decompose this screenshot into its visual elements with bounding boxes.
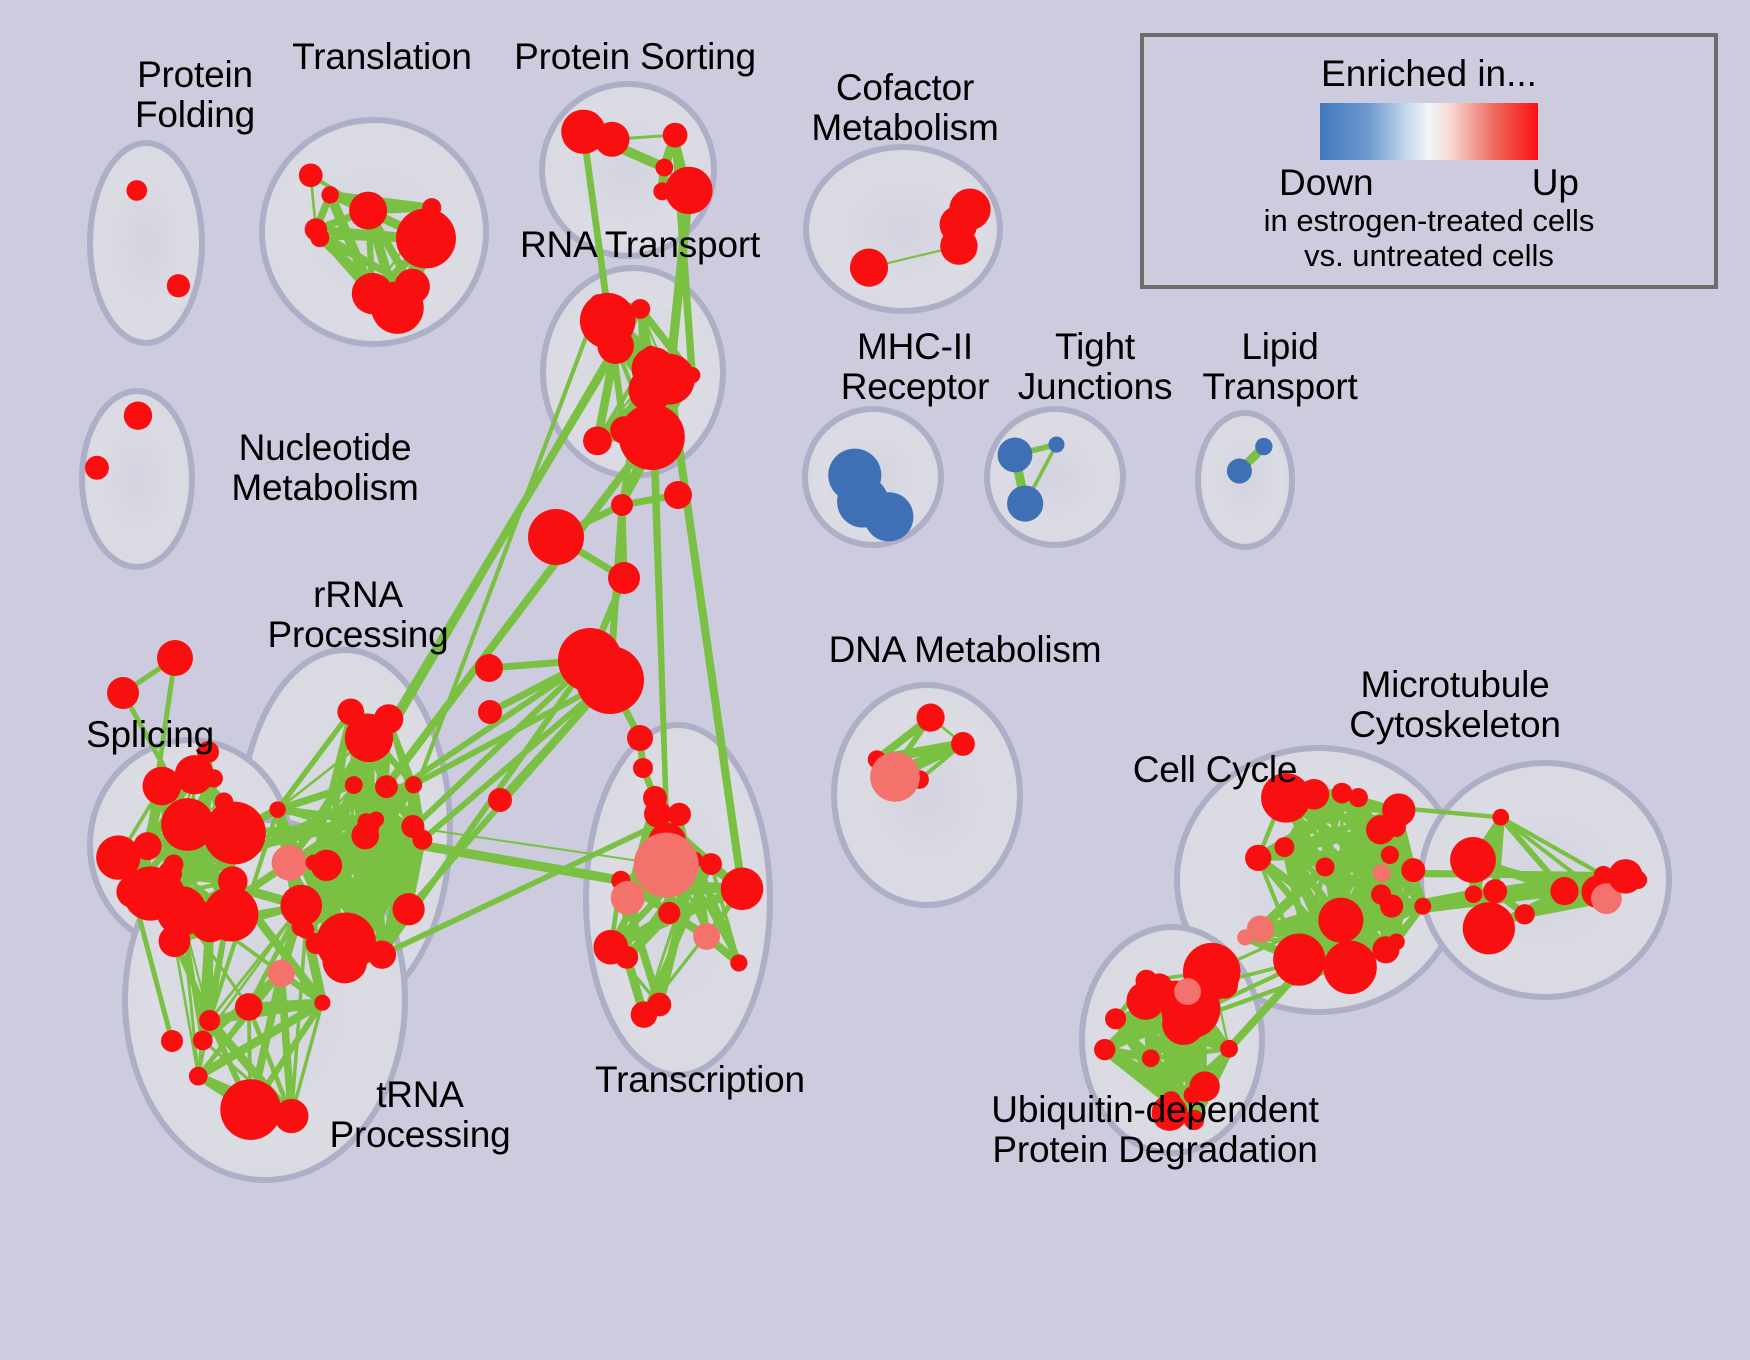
network-node-cell-cycle[interactable] [1274, 837, 1294, 857]
network-node-cofactor-metabolism[interactable] [940, 206, 978, 244]
network-node-cell-cycle[interactable] [1264, 784, 1299, 819]
network-node-spine[interactable] [576, 646, 644, 714]
network-node-splicing[interactable] [211, 841, 229, 859]
network-node-ubiquitin-protein-degradation[interactable] [1162, 1002, 1205, 1045]
network-node-cell-cycle[interactable] [1302, 951, 1318, 967]
network-node-protein-sorting[interactable] [594, 122, 629, 157]
legend-subtitle-line2: vs. untreated cells [1304, 239, 1554, 274]
network-node-microtubule-cytoskeleton[interactable] [1550, 877, 1578, 905]
network-node-transcription[interactable] [634, 833, 699, 898]
network-node-cofactor-metabolism[interactable] [850, 249, 888, 287]
legend-color-bar [1320, 103, 1538, 160]
network-node-dna-metabolism[interactable] [951, 732, 975, 756]
network-node-rrna-processing[interactable] [339, 957, 362, 980]
network-node-tight-junctions[interactable] [1048, 437, 1064, 453]
legend-endpoints: Down Up [1279, 162, 1579, 204]
network-node-trna-processing[interactable] [159, 925, 191, 957]
network-node-cell-cycle[interactable] [1332, 783, 1353, 804]
network-node-mhc-ii-receptor[interactable] [828, 449, 881, 502]
network-node-rrna-processing[interactable] [351, 822, 379, 850]
network-node-rrna-processing[interactable] [375, 775, 398, 798]
network-node-trna-processing[interactable] [190, 901, 231, 942]
network-node-cell-cycle[interactable] [1318, 898, 1363, 943]
network-node-microtubule-cytoskeleton[interactable] [1629, 871, 1647, 889]
network-node-spine[interactable] [528, 509, 584, 565]
network-node-rna-transport[interactable] [684, 367, 700, 383]
network-node-cell-cycle[interactable] [1373, 864, 1391, 882]
network-node-translation[interactable] [371, 281, 424, 334]
network-node-rrna-processing[interactable] [345, 714, 393, 762]
network-node-cell-cycle[interactable] [1245, 845, 1271, 871]
network-node-rna-transport[interactable] [632, 347, 676, 391]
network-node-ubiquitin-protein-degradation[interactable] [1135, 970, 1157, 992]
network-node-splicing-satellite[interactable] [197, 741, 219, 763]
network-node-protein-folding[interactable] [126, 180, 147, 201]
network-node-translation[interactable] [321, 186, 339, 204]
network-node-spine[interactable] [664, 481, 692, 509]
network-node-transcription[interactable] [700, 853, 722, 875]
network-node-trna-processing[interactable] [314, 995, 330, 1011]
network-node-spine[interactable] [611, 494, 633, 516]
network-node-transcription[interactable] [721, 867, 764, 910]
network-node-trna-processing[interactable] [235, 993, 263, 1021]
network-node-transcription[interactable] [730, 954, 747, 971]
network-node-transcription[interactable] [611, 881, 645, 915]
network-node-cell-cycle[interactable] [1237, 929, 1253, 945]
network-node-trna-processing[interactable] [268, 960, 295, 987]
network-node-trna-processing[interactable] [189, 1067, 208, 1086]
network-node-translation[interactable] [349, 192, 387, 230]
network-node-spine[interactable] [627, 725, 653, 751]
network-node-rrna-processing[interactable] [345, 776, 363, 794]
network-node-cell-cycle[interactable] [1372, 936, 1399, 963]
network-node-spine[interactable] [475, 654, 503, 682]
network-node-rna-transport[interactable] [597, 327, 634, 364]
network-node-transcription[interactable] [693, 923, 720, 950]
network-node-nucleotide-metabolism[interactable] [124, 402, 152, 430]
network-node-splicing-satellite[interactable] [107, 677, 139, 709]
legend-box: Enriched in... Down Up in estrogen-treat… [1140, 33, 1718, 289]
network-node-rrna-processing[interactable] [272, 845, 308, 881]
network-node-ubiquitin-protein-degradation[interactable] [1105, 1008, 1126, 1029]
network-node-lipid-transport[interactable] [1227, 459, 1252, 484]
network-node-tight-junctions[interactable] [1007, 485, 1043, 521]
cluster-ellipse-protein-folding [90, 143, 202, 343]
network-node-cell-cycle[interactable] [1401, 858, 1425, 882]
legend-subtitle-line1: in estrogen-treated cells [1264, 204, 1595, 239]
network-node-mhc-ii-receptor[interactable] [864, 492, 913, 541]
network-node-trna-processing[interactable] [280, 885, 322, 927]
network-node-spine[interactable] [488, 788, 512, 812]
network-node-rna-transport[interactable] [619, 404, 685, 470]
network-node-rrna-processing[interactable] [401, 815, 424, 838]
legend-down-label: Down [1279, 162, 1374, 204]
network-node-spine[interactable] [643, 786, 667, 810]
network-node-splicing[interactable] [116, 876, 148, 908]
network-node-protein-sorting[interactable] [663, 123, 688, 148]
network-node-protein-sorting[interactable] [653, 182, 671, 200]
network-node-tight-junctions[interactable] [998, 438, 1033, 473]
network-node-spine[interactable] [608, 562, 640, 594]
network-node-transcription[interactable] [647, 993, 671, 1017]
network-node-ubiquitin-protein-degradation[interactable] [1174, 978, 1201, 1005]
network-node-splicing[interactable] [96, 835, 140, 879]
network-node-ubiquitin-protein-degradation[interactable] [1094, 1039, 1115, 1060]
network-node-microtubule-cytoskeleton[interactable] [1483, 879, 1507, 903]
network-node-splicing[interactable] [164, 855, 184, 875]
network-node-microtubule-cytoskeleton[interactable] [1450, 837, 1496, 883]
network-node-cell-cycle[interactable] [1382, 793, 1415, 826]
network-node-microtubule-cytoskeleton[interactable] [1514, 904, 1534, 924]
network-node-cell-cycle[interactable] [1323, 941, 1376, 994]
network-node-dna-metabolism[interactable] [916, 704, 944, 732]
network-node-cell-cycle[interactable] [1381, 846, 1399, 864]
network-node-nucleotide-metabolism[interactable] [85, 456, 109, 480]
network-node-translation[interactable] [396, 208, 456, 268]
enrichment-map-figure: Protein FoldingTranslationProtein Sortin… [0, 0, 1750, 1360]
network-node-translation[interactable] [299, 163, 323, 187]
network-node-ubiquitin-protein-degradation[interactable] [1220, 1040, 1238, 1058]
network-node-rna-transport[interactable] [630, 299, 650, 319]
network-node-transcription[interactable] [658, 902, 680, 924]
network-node-ubiquitin-protein-degradation[interactable] [1161, 1091, 1181, 1111]
network-node-cell-cycle[interactable] [1414, 898, 1431, 915]
network-node-rna-transport[interactable] [590, 294, 608, 312]
network-node-transcription[interactable] [593, 930, 628, 965]
network-node-rrna-processing[interactable] [269, 801, 286, 818]
network-node-rrna-processing[interactable] [305, 855, 321, 871]
network-node-ubiquitin-protein-degradation[interactable] [1189, 1071, 1219, 1101]
network-node-trna-processing[interactable] [193, 1030, 213, 1050]
network-node-translation[interactable] [310, 228, 329, 247]
network-node-rrna-processing[interactable] [392, 893, 424, 925]
legend-title: Enriched in... [1321, 53, 1537, 95]
network-node-cell-cycle[interactable] [1380, 894, 1403, 917]
cluster-ellipse-tight-junctions [987, 409, 1123, 545]
network-node-protein-sorting[interactable] [665, 167, 712, 214]
network-node-microtubule-cytoskeleton[interactable] [1463, 902, 1515, 954]
network-node-rrna-processing[interactable] [405, 776, 422, 793]
legend-up-label: Up [1532, 162, 1579, 204]
network-node-microtubule-cytoskeleton[interactable] [1492, 809, 1509, 826]
network-node-lipid-transport[interactable] [1255, 438, 1272, 455]
network-node-protein-folding[interactable] [167, 274, 190, 297]
network-node-trna-processing[interactable] [199, 1010, 220, 1031]
network-node-dna-metabolism[interactable] [870, 752, 920, 802]
network-node-splicing-satellite[interactable] [157, 640, 193, 676]
network-node-trna-processing[interactable] [220, 1079, 281, 1140]
network-node-spine[interactable] [633, 758, 653, 778]
network-node-microtubule-cytoskeleton[interactable] [1465, 886, 1483, 904]
network-node-rna-transport[interactable] [583, 426, 612, 455]
network-node-rrna-processing[interactable] [368, 941, 396, 969]
network-node-spine[interactable] [478, 700, 502, 724]
network-node-ubiquitin-protein-degradation[interactable] [1142, 1049, 1160, 1067]
network-node-rrna-processing[interactable] [306, 933, 327, 954]
network-node-splicing-satellite[interactable] [161, 1030, 183, 1052]
edge [1325, 867, 1413, 870]
network-node-trna-processing[interactable] [224, 878, 241, 895]
network-node-cell-cycle[interactable] [1316, 858, 1335, 877]
network-node-protein-sorting[interactable] [655, 159, 673, 177]
